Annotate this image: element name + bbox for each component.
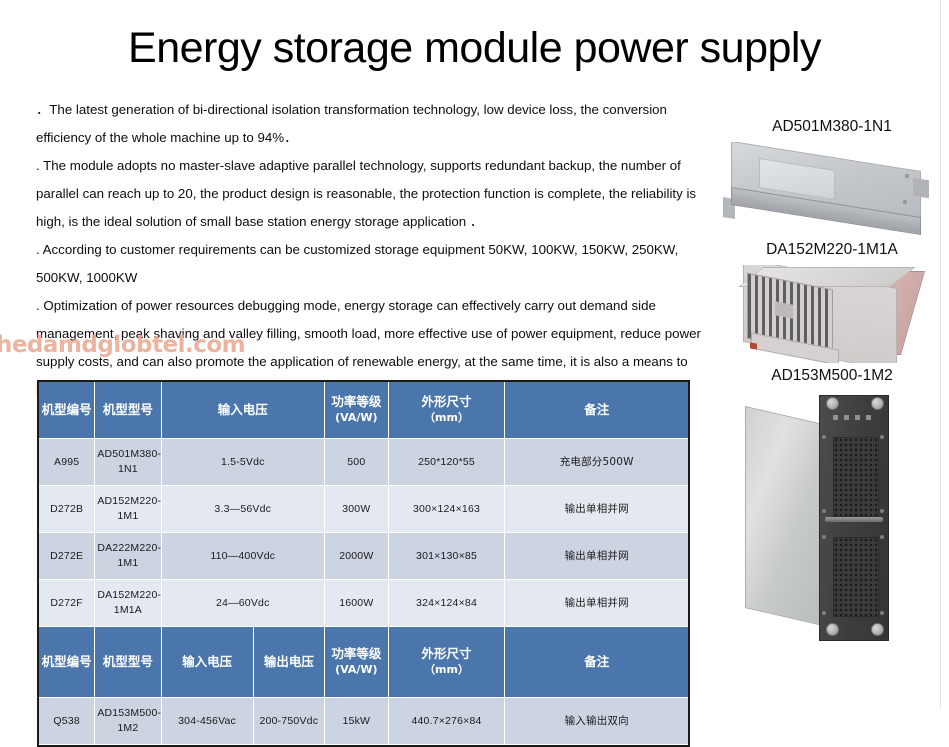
cell-power: 15kW [325, 698, 389, 745]
product-image-da152m220-1m1a [715, 265, 949, 363]
cell-size: 250*120*55 [388, 439, 505, 486]
paragraph-1: ．The latest generation of bi-directional… [36, 96, 704, 152]
cell-input-voltage: 304-456Vac [161, 698, 253, 745]
product-card-3: AD153M500-1M2 [715, 367, 949, 649]
header-power-level-unit: (VA/W) [327, 410, 386, 426]
table-header-row-2: 机型编号 机型型号 输入电压 输出电压 功率等级 (VA/W) 外形尺寸 （mm… [39, 627, 688, 698]
chassis-screw-1 [905, 174, 909, 178]
header-power-level-label: 功率等级 [331, 394, 381, 409]
header2-input-voltage: 输入电压 [161, 627, 253, 698]
cell-model-no: Q538 [39, 698, 95, 745]
cell-model-no: D272F [39, 580, 95, 627]
cell-size: 440.7×276×84 [388, 698, 505, 745]
cell-output-voltage: 200-750Vdc [253, 698, 324, 745]
rack-fan-grille-top [833, 437, 879, 517]
cell-power: 500 [325, 439, 389, 486]
cell-remark: 充电部分500W [505, 439, 688, 486]
cell-model-no: D272B [39, 486, 95, 533]
header2-dimensions-label: 外形尺寸 [422, 646, 472, 661]
rack-fan-grille-bottom [833, 537, 879, 617]
rack-thumbscrew-top-left [826, 397, 839, 410]
header-dimensions: 外形尺寸 （mm） [388, 382, 505, 439]
header2-output-voltage: 输出电压 [253, 627, 324, 698]
cell-model-type: AD501M380-1N1 [95, 439, 161, 486]
header-power-level: 功率等级 (VA/W) [325, 382, 389, 439]
rack-thumbscrew-top-right [871, 397, 884, 410]
cell-model-type: DA152M220-1M1A [95, 580, 161, 627]
product-gallery: AD501M380-1N1 DA152M220-1M1A [715, 118, 949, 653]
cell-power: 300W [325, 486, 389, 533]
chassis-right-ear [913, 178, 929, 199]
cell-input-voltage: 24—60Vdc [161, 580, 325, 627]
paragraph-2: . The module adopts no master-slave adap… [36, 152, 704, 236]
cell-model-type: AD152M220-1M1 [95, 486, 161, 533]
header2-power-level: 功率等级 (VA/W) [325, 627, 389, 698]
rack-side-panel [745, 406, 823, 626]
cell-remark: 输入输出双向 [505, 698, 688, 745]
rack-screw-8 [880, 611, 884, 615]
chassis-screw-2 [903, 200, 907, 204]
page-title: Energy storage module power supply [0, 24, 949, 73]
cell-power: 1600W [325, 580, 389, 627]
cell-size: 300×124×163 [388, 486, 505, 533]
table-row: D272F DA152M220-1M1A 24—60Vdc 1600W 324×… [39, 580, 688, 627]
rack-screw-5 [822, 535, 826, 539]
table-row: A995 AD501M380-1N1 1.5-5Vdc 500 250*120*… [39, 439, 688, 486]
rack-thumbscrew-bottom-right [871, 623, 884, 636]
right-edge-divider [940, 0, 941, 708]
rack-screw-1 [822, 435, 826, 439]
table-row: Q538 AD153M500-1M2 304-456Vac 200-750Vdc… [39, 698, 688, 745]
product-card-2: DA152M220-1M1A [715, 241, 949, 363]
header2-dimensions-unit: （mm） [391, 662, 503, 678]
module-release-tab [750, 342, 757, 349]
cell-remark: 输出单相并网 [505, 580, 688, 627]
rack-thumbscrew-bottom-left [826, 623, 839, 636]
rack-screw-4 [880, 509, 884, 513]
table-row: D272B AD152M220-1M1 3.3—56Vdc 300W 300×1… [39, 486, 688, 533]
cell-size: 301×130×85 [388, 533, 505, 580]
cell-input-voltage: 3.3—56Vdc [161, 486, 325, 533]
product-label-2: DA152M220-1M1A [715, 241, 949, 259]
rack-screw-7 [822, 611, 826, 615]
spec-table: 机型编号 机型型号 输入电压 功率等级 (VA/W) 外形尺寸 （mm） 备注 … [39, 382, 688, 745]
header-dimensions-label: 外形尺寸 [422, 394, 472, 409]
rack-screw-3 [822, 509, 826, 513]
cell-remark: 输出单相并网 [505, 486, 688, 533]
header2-model-type: 机型型号 [95, 627, 161, 698]
product-card-1: AD501M380-1N1 [715, 118, 949, 237]
product-image-ad501m380-1n1 [715, 142, 949, 237]
rack-led-strip [833, 415, 877, 420]
header-remark: 备注 [505, 382, 688, 439]
header-dimensions-unit: （mm） [391, 410, 503, 426]
header2-power-level-label: 功率等级 [331, 646, 381, 661]
product-label-1: AD501M380-1N1 [715, 118, 949, 136]
header2-power-level-unit: (VA/W) [327, 662, 386, 678]
paragraph-3: . According to customer requirements can… [36, 236, 704, 292]
header-model-type: 机型型号 [95, 382, 161, 439]
cell-model-no: A995 [39, 439, 95, 486]
cell-size: 324×124×84 [388, 580, 505, 627]
specification-table: 机型编号 机型型号 输入电压 功率等级 (VA/W) 外形尺寸 （mm） 备注 … [37, 380, 690, 747]
rack-screw-6 [880, 535, 884, 539]
header2-remark: 备注 [505, 627, 688, 698]
table-header-row-1: 机型编号 机型型号 输入电压 功率等级 (VA/W) 外形尺寸 （mm） 备注 [39, 382, 688, 439]
slide-page: Energy storage module power supply ．The … [0, 0, 949, 708]
header-model-no: 机型编号 [39, 382, 95, 439]
header2-dimensions: 外形尺寸 （mm） [388, 627, 505, 698]
cell-model-no: D272E [39, 533, 95, 580]
rack-screw-2 [880, 435, 884, 439]
cell-power: 2000W [325, 533, 389, 580]
product-image-ad153m500-1m2 [715, 391, 949, 649]
product-label-3: AD153M500-1M2 [715, 367, 949, 385]
cell-input-voltage: 1.5-5Vdc [161, 439, 325, 486]
header2-model-no: 机型编号 [39, 627, 95, 698]
cell-model-type: DA222M220-1M1 [95, 533, 161, 580]
table-row: D272E DA222M220-1M1 110—400Vdc 2000W 301… [39, 533, 688, 580]
rack-handle [825, 517, 883, 522]
description-block: ．The latest generation of bi-directional… [36, 96, 704, 404]
cell-input-voltage: 110—400Vdc [161, 533, 325, 580]
cell-remark: 输出单相并网 [505, 533, 688, 580]
header-input-voltage: 输入电压 [161, 382, 325, 439]
cell-model-type: AD153M500-1M2 [95, 698, 161, 745]
